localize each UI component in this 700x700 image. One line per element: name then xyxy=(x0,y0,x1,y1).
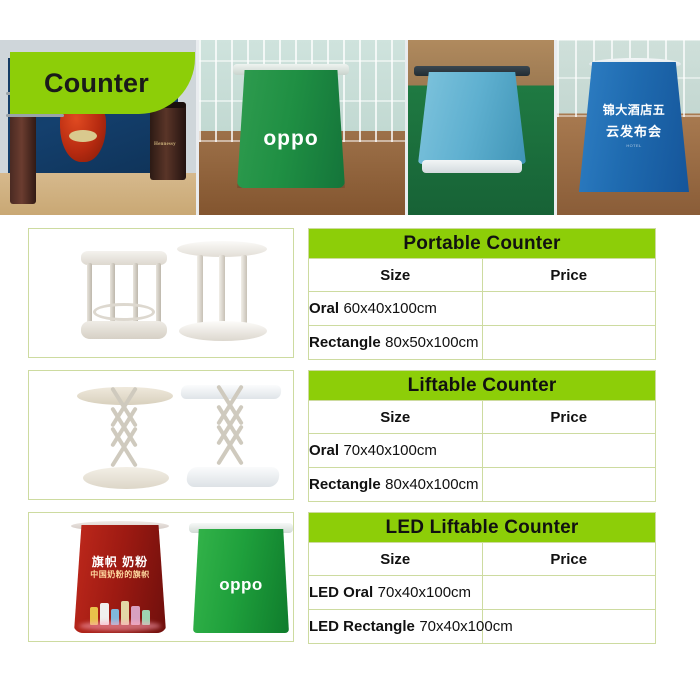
table-title: Liftable Counter xyxy=(309,371,656,401)
product-rows: Portable Counter Size Price Oral 60x40x1… xyxy=(0,224,700,650)
table-title: Portable Counter xyxy=(309,229,656,259)
size-label: Oral xyxy=(309,442,339,459)
hotel-counter-line1: 锦大酒店五 xyxy=(579,101,689,118)
spec-table-portable-counter: Portable Counter Size Price Oral 60x40x1… xyxy=(308,228,656,360)
size-cell: LED Rectangle 70x40x100cm xyxy=(309,610,483,644)
page-title-tab: Counter xyxy=(10,52,195,114)
page-title: Counter xyxy=(10,52,195,114)
table-row: Rectangle 80x50x100cm xyxy=(309,326,656,360)
column-header-size: Size xyxy=(309,259,483,292)
size-label: LED Oral xyxy=(309,584,373,601)
table-row: Oral 60x40x100cm xyxy=(309,292,656,326)
led-oppo-brand-text: oppo xyxy=(193,575,289,595)
bottle-label xyxy=(69,130,97,142)
size-cell: Rectangle 80x50x100cm xyxy=(309,326,483,360)
size-label: Rectangle xyxy=(309,476,381,493)
led-rect-counter-body: oppo xyxy=(193,529,289,633)
pod-logo-text: Hennessy xyxy=(154,142,176,147)
liftable-rect-base xyxy=(186,467,281,487)
liftable-rect-top xyxy=(180,385,281,399)
table-row: Oral 70x40x100cm xyxy=(309,434,656,468)
product-row-liftable-counter: Liftable Counter Size Price Oral 70x40x1… xyxy=(0,366,700,508)
size-dimensions: 80x50x100cm xyxy=(385,334,478,351)
price-cell[interactable] xyxy=(482,292,656,326)
size-cell: Oral 70x40x100cm xyxy=(309,434,483,468)
column-header-price: Price xyxy=(482,401,656,434)
scissor-mechanism-rect xyxy=(207,401,253,467)
size-dimensions: 70x40x100cm xyxy=(378,584,471,601)
blue-counter-base xyxy=(422,160,522,173)
size-label: Oral xyxy=(309,300,339,317)
liftable-oval-base xyxy=(83,467,169,489)
hotel-counter-subtext: HOTEL xyxy=(579,143,689,148)
blue-counter-body xyxy=(418,72,526,164)
led-graphic-line1: 旗帜 奶粉 xyxy=(73,553,167,570)
hotel-counter-line2: 云发布会 xyxy=(579,121,689,140)
oppo-brand-text: oppo xyxy=(237,127,345,151)
table-row: LED Oral 70x40x100cm xyxy=(309,576,656,610)
size-dimensions: 60x40x100cm xyxy=(343,300,436,317)
size-cell: LED Oral 70x40x100cm xyxy=(309,576,483,610)
size-label: Rectangle xyxy=(309,334,381,351)
size-dimensions: 80x40x100cm xyxy=(385,476,478,493)
size-dimensions: 70x40x100cm xyxy=(419,618,512,635)
column-header-size: Size xyxy=(309,401,483,434)
column-header-size: Size xyxy=(309,543,483,576)
led-oval-counter-body: 旗帜 奶粉 中国奶粉的旗帜 xyxy=(73,525,167,633)
hero-photo-oppo-counter: oppo xyxy=(199,40,405,215)
table-title: LED Liftable Counter xyxy=(309,513,656,543)
size-label: LED Rectangle xyxy=(309,618,415,635)
size-cell: Oral 60x40x100cm xyxy=(309,292,483,326)
product-photo-led-liftable-counter: 旗帜 奶粉 中国奶粉的旗帜 xyxy=(28,512,294,642)
size-cell: Rectangle 80x40x100cm xyxy=(309,468,483,502)
led-graphic-line2: 中国奶粉的旗帜 xyxy=(73,569,167,580)
product-row-led-liftable-counter: 旗帜 奶粉 中国奶粉的旗帜 xyxy=(0,508,700,650)
size-dimensions: 70x40x100cm xyxy=(343,442,436,459)
product-row-portable-counter: Portable Counter Size Price Oral 60x40x1… xyxy=(0,224,700,366)
led-glow-strip xyxy=(79,621,161,631)
column-header-price: Price xyxy=(482,543,656,576)
spec-table-liftable-counter: Liftable Counter Size Price Oral 70x40x1… xyxy=(308,370,656,502)
table-row: Rectangle 80x40x100cm xyxy=(309,468,656,502)
table-row: LED Rectangle 70x40x100cm xyxy=(309,610,656,644)
spec-table-led-liftable-counter: LED Liftable Counter Size Price LED Oral… xyxy=(308,512,656,644)
oval-frame-legs xyxy=(197,255,247,327)
rect-frame-base xyxy=(81,321,167,339)
oval-frame-base xyxy=(179,321,267,341)
column-header-price: Price xyxy=(482,259,656,292)
rect-frame-ring xyxy=(93,303,155,321)
hotel-counter-body: 锦大酒店五 云发布会 HOTEL xyxy=(579,62,689,192)
product-photo-liftable-counter xyxy=(28,370,294,500)
oppo-counter-body: oppo xyxy=(237,70,345,188)
hero-photo-blue-counter xyxy=(408,40,554,215)
hero-photo-chinese-hotel-counter: 锦大酒店五 云发布会 HOTEL xyxy=(557,40,700,215)
price-cell[interactable] xyxy=(482,434,656,468)
scissor-mechanism-oval xyxy=(101,403,147,469)
product-photo-portable-counter xyxy=(28,228,294,358)
product-catalog-page: Hennessy Hennessy Hennessy xyxy=(0,0,700,700)
booth-rail-lower xyxy=(6,114,64,117)
